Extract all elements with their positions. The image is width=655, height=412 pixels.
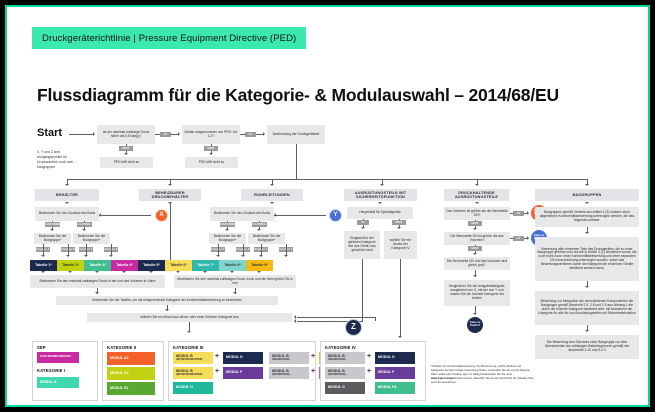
ped-not-applicable-1: PED trifft nicht zu xyxy=(100,157,153,168)
arrow-down xyxy=(380,184,384,186)
arrow-down xyxy=(225,229,229,231)
module-d1[interactable]: MODUL D1 xyxy=(107,367,155,380)
plus-sign: + xyxy=(367,353,371,360)
footnote-pre: *Tabellen der Konformitätsbewertung. Zur… xyxy=(431,365,530,376)
module-a[interactable]: MODUL A xyxy=(37,377,79,388)
arrow-down xyxy=(473,275,477,277)
table-link-3[interactable]: Tabelle 3* xyxy=(84,260,111,271)
arrow-down xyxy=(82,229,86,231)
connector xyxy=(297,317,375,318)
start-label: Start xyxy=(37,127,62,139)
module-b-baumuster-k4-1[interactable]: MODUL B (BAUMUSTER) xyxy=(325,352,365,364)
choose-module-step: Wählen Sie ein Modul aus dieser oder ein… xyxy=(87,313,292,322)
connector xyxy=(218,244,219,255)
module-sublabel: (BAUMUSTER) xyxy=(328,374,365,377)
special-equipment-question: Hergestellt für Spezialgeräte xyxy=(347,207,413,219)
answer-no-1: NEIN xyxy=(119,146,133,151)
page-title: Flussdiagramm für die Kategorie- & Modul… xyxy=(37,85,559,106)
legend-title-kat4: KATEGORIE IV xyxy=(325,345,356,350)
arrow-down xyxy=(585,330,589,332)
distribution-bus xyxy=(67,179,587,180)
arrow-down xyxy=(585,232,589,234)
pressure-yes-2: JA xyxy=(513,236,524,241)
fluid-state-question-1: Bestimmen Sie den Zustand des fluids xyxy=(35,207,99,221)
arrow-down xyxy=(475,202,479,204)
module-label: MODUL D xyxy=(226,356,263,360)
module-label: MODUL D xyxy=(378,356,415,360)
arrow-down xyxy=(585,286,589,288)
arrow-down xyxy=(230,271,234,273)
connector xyxy=(68,244,69,255)
arrow-down xyxy=(41,271,45,273)
arrow-down xyxy=(257,271,261,273)
arrow-down xyxy=(84,255,88,257)
connector xyxy=(43,244,44,255)
connector-beheizbarer xyxy=(170,203,171,260)
module-b-entwurf-1[interactable]: MODUL B (ENTWURFSMUSTER) xyxy=(173,352,213,364)
determine-pressure-volume: Bestimmen Sie den maximal zulässigen Dru… xyxy=(30,275,165,288)
module-e1[interactable]: MODUL E1 xyxy=(107,382,155,395)
fluid-group-question-1b: Bestimmen Sie die fluidgruppe* xyxy=(73,233,110,244)
module-label: MODUL A2 xyxy=(110,357,155,361)
arrow-right xyxy=(178,132,180,136)
marker-x: X xyxy=(155,209,168,222)
arrow-down xyxy=(124,153,128,155)
connector xyxy=(86,244,87,255)
plus-sign: + xyxy=(215,353,219,360)
safety-answer-yes: Eingestuft in der gleichen Kategorie wie… xyxy=(344,231,380,259)
volume-vs-dn-question-1: Das Volumen ist größer als die Nennweite… xyxy=(444,207,510,220)
fluid-gas-1: GASFÖRMIG xyxy=(45,222,60,227)
arrow-down xyxy=(585,184,589,186)
module-label: MODUL E1 xyxy=(110,387,155,391)
table-link-9[interactable]: Tabelle 9* xyxy=(246,260,273,271)
arrow-down xyxy=(122,271,126,273)
connector xyxy=(375,317,376,321)
module-gute-ingenieurpraxis[interactable]: GUTE INGENIEURPRAXIS xyxy=(37,352,79,363)
goto-point-z-circle: Gehe zu Punkt Z xyxy=(467,317,483,333)
use-table-step: Verwenden Sie die Tabelle, um die entspr… xyxy=(56,296,278,305)
flow-question-1: Ist der maximal zulässige Druck höher al… xyxy=(97,125,155,144)
arrow-down xyxy=(165,309,169,311)
table-link-6[interactable]: Tabelle 6* xyxy=(165,260,192,271)
fluid-group-question-2b: Bestimmen Sie die fluidgruppe* xyxy=(248,233,285,244)
volume-vs-dn-question-2: Die Nennweite DN ist größer als das Volu… xyxy=(444,232,510,245)
module-label: MODUL D1 xyxy=(110,372,155,376)
plus-sign: + xyxy=(311,368,315,375)
module-label: MODUL H1 xyxy=(378,386,415,390)
arrow-down xyxy=(168,184,172,186)
arrow-left xyxy=(294,319,296,323)
arrow-down xyxy=(473,228,477,230)
safety-answer-no: wählen Sie ein Modul der Kategorie IV xyxy=(384,231,417,259)
table-link-1[interactable]: Tabelle 1* xyxy=(30,260,57,271)
answer-yes-2: JA xyxy=(245,132,256,137)
module-d-kat3[interactable]: MODUL D xyxy=(223,352,263,364)
assembly-paragraph-2: Bewertung aller einzelnen Teile des Druc… xyxy=(535,237,639,281)
legend-title-kat1: KATEGORIE I xyxy=(37,368,65,373)
column-header-baugruppen: BAUGRUPPEN xyxy=(535,189,639,201)
connector xyxy=(286,244,287,255)
flow-question-2: Geräte ausgenommen von PED: Art. 1.2? xyxy=(182,125,240,144)
arrow-down xyxy=(95,271,99,273)
arrow-down xyxy=(475,184,479,186)
module-sublabel: (ENTWURFSMUSTER) xyxy=(176,359,213,362)
determine-pressure-dn: Bestimmen Sie den maximal zulässigen Dru… xyxy=(174,275,296,288)
fluid-gas-2: GASFÖRMIG xyxy=(220,222,235,227)
module-sublabel: (BAUMUSTER) xyxy=(328,359,365,362)
legend-title-kat2: KATEGORIE II xyxy=(107,345,136,350)
volume-equals-dn: Die Nennweite DN und das Volumen sind gl… xyxy=(444,257,510,270)
arrow-down xyxy=(68,271,72,273)
module-b-baumuster-1[interactable]: MODUL B (BAUMUSTER) xyxy=(269,352,309,364)
legend-title-sep: SEP xyxy=(37,345,46,350)
fluid-group-question-1a: Bestimmen Sie die fluidgruppe* xyxy=(34,233,71,244)
arrow-right xyxy=(527,211,529,215)
module-label: MODUL A xyxy=(40,381,79,385)
module-b-entwurf-2[interactable]: MODUL B (ENTWURFSMUSTER) xyxy=(173,367,213,379)
table-link-4[interactable]: Tabelle 4* xyxy=(111,260,138,271)
arrow-down xyxy=(50,229,54,231)
poster-frame: Druckgeräterichtlinie | Pressure Equipme… xyxy=(5,5,650,407)
fluid-liquid-2: FLÜSSIG xyxy=(252,222,267,227)
arrow-down xyxy=(270,202,274,204)
plus-sign: + xyxy=(367,368,371,375)
connector xyxy=(261,244,262,255)
arrow-left xyxy=(274,213,276,217)
flowchart-page: Druckgeräterichtlinie | Pressure Equipme… xyxy=(0,0,655,412)
module-b-baumuster-2[interactable]: MODUL B (BAUMUSTER) xyxy=(269,367,309,379)
arrow-down xyxy=(233,292,237,294)
plus-sign: + xyxy=(215,368,219,375)
table-link-2[interactable]: Tabelle 2* xyxy=(57,260,84,271)
footnote-text: *Tabellen der Konformitätsbewertung. Zur… xyxy=(431,365,534,385)
answer-yes-1: JA xyxy=(160,132,171,137)
start-note: X, Y und Z sind Ausgangspunkte für Druck… xyxy=(37,150,83,170)
module-sublabel: (BAUMUSTER) xyxy=(272,374,309,377)
marker-y: Y xyxy=(329,209,342,222)
fluid-state-question-2: Bestimmen Sie den Zustand des fluids xyxy=(210,207,274,221)
arrow-down xyxy=(378,202,382,204)
column-header-behaelter: BEHÄLTER xyxy=(35,189,99,201)
table-link-7[interactable]: Tabelle 7* xyxy=(192,260,219,271)
arrow-down xyxy=(66,255,70,257)
arrow-down xyxy=(473,253,477,255)
assembly-paragraph-3: Bewertung zur Integration der verschiede… xyxy=(535,291,639,325)
determine-equipment-type: Bestimmung der Druckgeräteart xyxy=(267,125,325,144)
connector xyxy=(400,259,401,337)
module-label: MODUL G xyxy=(328,386,365,390)
plus-sign: + xyxy=(311,353,315,360)
connector xyxy=(274,215,326,216)
module-h-kat3[interactable]: MODUL H xyxy=(173,382,213,394)
pressure-no-1: NEIN xyxy=(468,221,482,226)
arrow-down xyxy=(284,255,288,257)
arrow-down xyxy=(65,184,69,186)
table-link-5[interactable]: Tabelle 5* xyxy=(138,260,165,271)
answer-no-2: NEIN xyxy=(204,146,218,151)
arrow-down xyxy=(95,292,99,294)
connector xyxy=(243,244,244,255)
fluid-liquid-1: FLÜSSIG xyxy=(77,222,92,227)
pressure-no-2: NEIN xyxy=(468,246,482,251)
module-label: MODUL F xyxy=(226,371,263,375)
arrow-down xyxy=(149,271,153,273)
legend-title-kat3: KATEGORIE III xyxy=(173,345,204,350)
module-b-baumuster-k4-2[interactable]: MODUL B (BAUMUSTER) xyxy=(325,367,365,379)
column-header-druckhaltende: DRUCKHALTENDE AUSRÜSTUNGSTEILE xyxy=(444,189,509,201)
ped-not-applicable-2: PED trifft nicht zu xyxy=(185,157,238,168)
safety-no: NEIN xyxy=(392,220,406,225)
arrow-down xyxy=(397,227,401,229)
column-header-rohrleitungen: ROHRLEITUNGEN xyxy=(241,189,303,201)
arrow-right xyxy=(93,132,95,136)
safety-yes: JA xyxy=(357,220,369,225)
arrow-down xyxy=(259,255,263,257)
arrow-down xyxy=(65,202,69,204)
module-d-kat4[interactable]: MODUL D xyxy=(375,352,415,364)
module-label: MODUL F xyxy=(378,371,415,375)
pressure-yes-1: JA xyxy=(513,211,524,216)
column-header-sicherheitsfunktion: AUSRÜSTUNGSTEILE MIT SICHERHEITSFUNKTION xyxy=(344,189,417,201)
arrow-down xyxy=(361,227,365,229)
module-g[interactable]: MODUL G xyxy=(325,382,365,394)
module-f-kat3[interactable]: MODUL F xyxy=(223,367,263,379)
connector xyxy=(362,259,363,321)
arrow-left xyxy=(99,213,101,217)
compare-output-category: Vergleichen Sie die Ausgabekategorie, au… xyxy=(444,280,510,306)
arrow-right xyxy=(263,132,265,136)
arrow-down xyxy=(257,229,261,231)
connector xyxy=(111,244,112,255)
arrow-down xyxy=(398,336,402,338)
footnote-link[interactable]: www.lrqa.com/ped xyxy=(431,377,455,380)
arrow-right xyxy=(527,236,529,240)
module-f-kat4[interactable]: MODUL F xyxy=(375,367,415,379)
connector xyxy=(69,134,94,135)
table-link-8[interactable]: Tabelle 8* xyxy=(219,260,246,271)
assembly-paragraph-1: Baugruppen gemäß Verweis aus Artikel 4 (… xyxy=(535,207,639,227)
connector xyxy=(296,144,297,179)
arrow-down xyxy=(585,202,589,204)
module-sublabel: (BAUMUSTER) xyxy=(272,359,309,362)
fluid-group-question-2a: Bestimmen Sie die fluidgruppe* xyxy=(209,233,246,244)
arrow-down xyxy=(216,255,220,257)
module-label: MODUL H xyxy=(176,386,213,390)
arrow-down xyxy=(187,331,191,333)
module-label: GUTE INGENIEURPRAXIS xyxy=(40,356,79,359)
column-header-beheizbarer: BEHEIZBARER DRUCKBEHÄLTER xyxy=(139,189,201,201)
arrow-down xyxy=(41,255,45,257)
module-h1[interactable]: MODUL H1 xyxy=(375,382,415,394)
module-sublabel: (ENTWURFSMUSTER) xyxy=(176,374,213,377)
arrow-down xyxy=(203,271,207,273)
arrow-down xyxy=(109,255,113,257)
arrow-down xyxy=(209,153,213,155)
arrow-down xyxy=(473,313,477,315)
module-a2[interactable]: MODUL A2 xyxy=(107,352,155,365)
arrow-down xyxy=(270,184,274,186)
marker-z: Z xyxy=(345,319,362,336)
assembly-paragraph-4: Die Bewertung des Schutzes einer Baugrup… xyxy=(535,335,639,359)
arrow-down xyxy=(241,255,245,257)
arrow-down xyxy=(176,271,180,273)
directive-tag-banner: Druckgeräterichtlinie | Pressure Equipme… xyxy=(32,27,306,49)
